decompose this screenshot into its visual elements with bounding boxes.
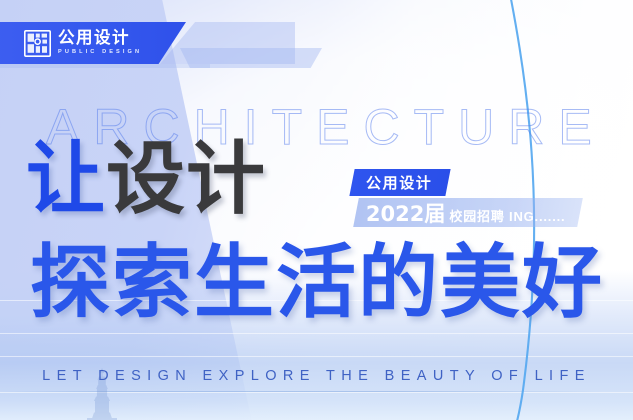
haze-band: [0, 333, 633, 334]
seal-stamp-icon: [24, 30, 51, 57]
badge-campaign-label: 校园招聘 ING.......: [450, 206, 566, 225]
recruitment-poster: ARCHITECTURE 公用设计 PUBLIC DESIGN 让: [0, 0, 633, 420]
badge-brand-label: 公用设计: [366, 172, 432, 193]
badge-year-label: 2022届: [366, 198, 445, 228]
brand-name-en: PUBLIC DESIGN: [58, 50, 142, 56]
haze-band: [0, 356, 633, 357]
brand-name-cn: 公用设计: [58, 30, 142, 47]
headline-line-2: 探索生活的美好: [30, 243, 604, 323]
headline-line-1: 让 设计: [26, 142, 266, 216]
headline-word-dark: 设计: [106, 142, 266, 216]
brand-ribbon: 公用设计 PUBLIC DESIGN: [0, 22, 186, 64]
footer-tagline: LET DESIGN EXPLORE THE BEAUTY OF LIFE: [0, 368, 633, 384]
header-accent-shape-c: [0, 64, 210, 68]
badge-brand: 公用设计: [349, 169, 451, 196]
badge-campaign: 2022届 校园招聘 ING.......: [353, 198, 583, 227]
headline-word-blue: 让: [26, 142, 106, 216]
